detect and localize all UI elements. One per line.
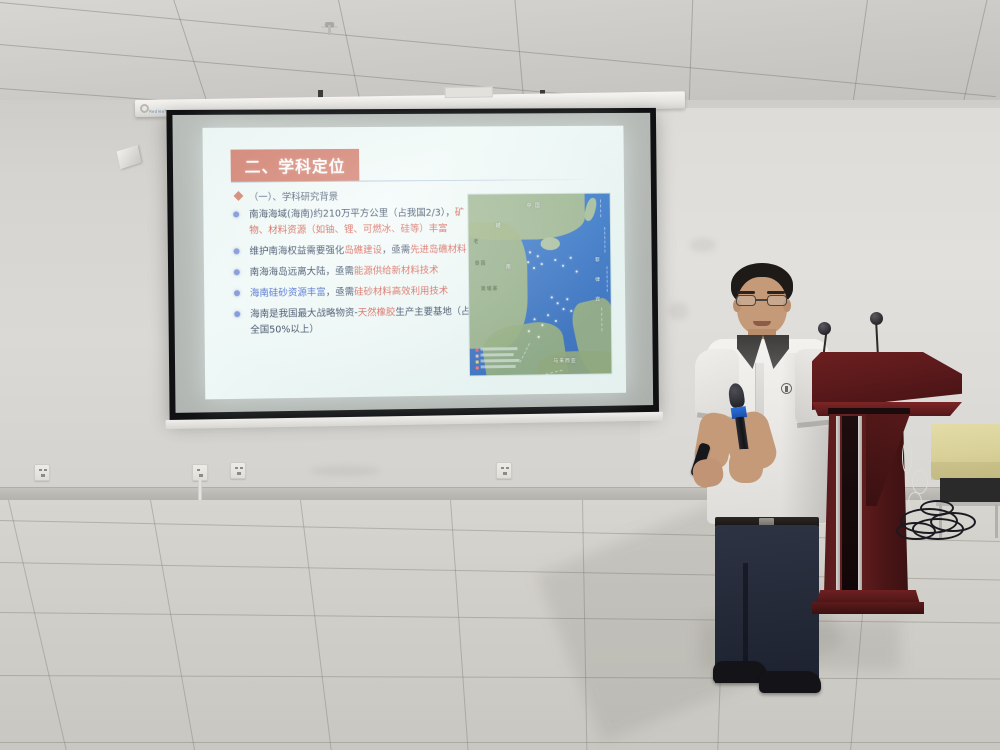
map-label: 马来西亚 <box>553 357 576 364</box>
mic-grille <box>727 382 745 408</box>
map-label: 越 <box>496 222 502 229</box>
lectern-slot <box>828 408 910 415</box>
eyebrow <box>767 291 785 294</box>
map-label: 泰国 <box>475 260 487 267</box>
power-cable-coil <box>912 470 928 494</box>
bullet-dot-icon <box>234 248 240 254</box>
wall-outlet[interactable] <box>192 464 208 481</box>
trousers <box>715 525 819 683</box>
lectern-top <box>812 352 962 410</box>
list-item: 海南是我国最大战略物资-天然橡胶生产主要基地（占 全国50%以上） <box>230 304 476 339</box>
slide-title: 二、学科定位 <box>231 149 360 183</box>
map-legend <box>476 347 521 369</box>
list-item: 维护南海权益需要强化岛礁建设，亟需先进岛礁材料 <box>230 242 476 260</box>
wall-outlet[interactable] <box>496 462 512 479</box>
cable-bundle <box>930 512 976 532</box>
map-label: 中 国 <box>527 202 541 209</box>
lectern-chrome-trim <box>836 416 840 592</box>
map-label: 律 <box>595 276 601 283</box>
bullet-line: 海南硅砂资源丰富，亟需硅砂材料高效利用技术 <box>250 284 476 303</box>
roller-motor-box <box>445 86 493 98</box>
map-label: 菲 <box>595 257 601 264</box>
south-china-sea-map: 中 国 越 老 泰国 南 柬埔寨 菲 律 宾 马来西亚 <box>467 193 612 377</box>
bullet-dot-icon <box>233 211 239 217</box>
hand-right <box>729 449 763 483</box>
power-cable-coil <box>902 440 912 474</box>
bullet-line: 物、材料资源（如铀、锂、可燃冰、硅等）丰富 <box>249 221 475 239</box>
wall-outlet[interactable] <box>34 464 50 481</box>
table-leg <box>995 504 998 538</box>
map-label: 柬埔寨 <box>481 285 499 292</box>
eyebrow <box>737 291 755 294</box>
bullet-dot-icon <box>234 311 240 317</box>
list-item: 海南硅砂资源丰富，亟需硅砂材料高效利用技术 <box>230 284 476 303</box>
lectern-dark-panel <box>842 416 858 592</box>
list-item: 南海海域(海南)约210万平方公里（占我国2/3），矿 物、材料资源（如铀、锂、… <box>229 205 475 239</box>
podium-microphone[interactable] <box>818 322 831 335</box>
bullet-line: 海南是我国最大战略物资-天然橡胶生产主要基地（占 <box>250 304 476 323</box>
lecture-room-scene: Redleaf 二、学科定位 （一）、学科研究背景 南海海域(海南)约210万平… <box>0 0 1000 750</box>
podium-microphone[interactable] <box>870 312 883 325</box>
chest-logo-icon <box>781 383 792 394</box>
projected-slide: 二、学科定位 （一）、学科研究背景 南海海域(海南)约210万平方公里（占我国2… <box>202 126 626 400</box>
lectern-base-plinth <box>812 602 924 614</box>
list-item: 南海海岛远离大陆，亟需能源供给新材料技术 <box>230 263 476 282</box>
map-label: 老 <box>473 238 479 245</box>
slide-bullet-list: 南海海域(海南)约210万平方公里（占我国2/3），矿 物、材料资源（如铀、锂、… <box>229 205 476 344</box>
screen-hook <box>140 104 149 113</box>
roller-brand-label: Redleaf <box>149 109 166 114</box>
bullet-line: 南海海岛远离大陆，亟需能源供给新材料技术 <box>250 263 476 281</box>
slide-subtitle: （一）、学科研究背景 <box>249 189 338 204</box>
lectern-chrome-trim <box>858 416 862 592</box>
shoe <box>759 671 821 693</box>
diamond-bullet-icon <box>234 191 244 201</box>
bullet-dot-icon <box>234 290 240 296</box>
mouth <box>753 321 771 326</box>
bullet-line: 维护南海权益需要强化岛礁建设，亟需先进岛礁材料 <box>249 242 475 260</box>
wall-outlet[interactable] <box>230 462 246 479</box>
map-label: 南 <box>506 263 512 270</box>
bullet-line: 全国50%以上） <box>250 320 476 339</box>
bullet-dot-icon <box>234 269 240 275</box>
sprinkler-head-icon <box>321 22 338 38</box>
map-label: 宾 <box>595 296 601 303</box>
shirt-placket <box>755 363 764 415</box>
table-dark-panel <box>940 478 1000 504</box>
projection-screen[interactable]: 二、学科定位 （一）、学科研究背景 南海海域(海南)约210万平方公里（占我国2… <box>166 108 659 420</box>
eyeglasses-icon <box>735 295 789 307</box>
